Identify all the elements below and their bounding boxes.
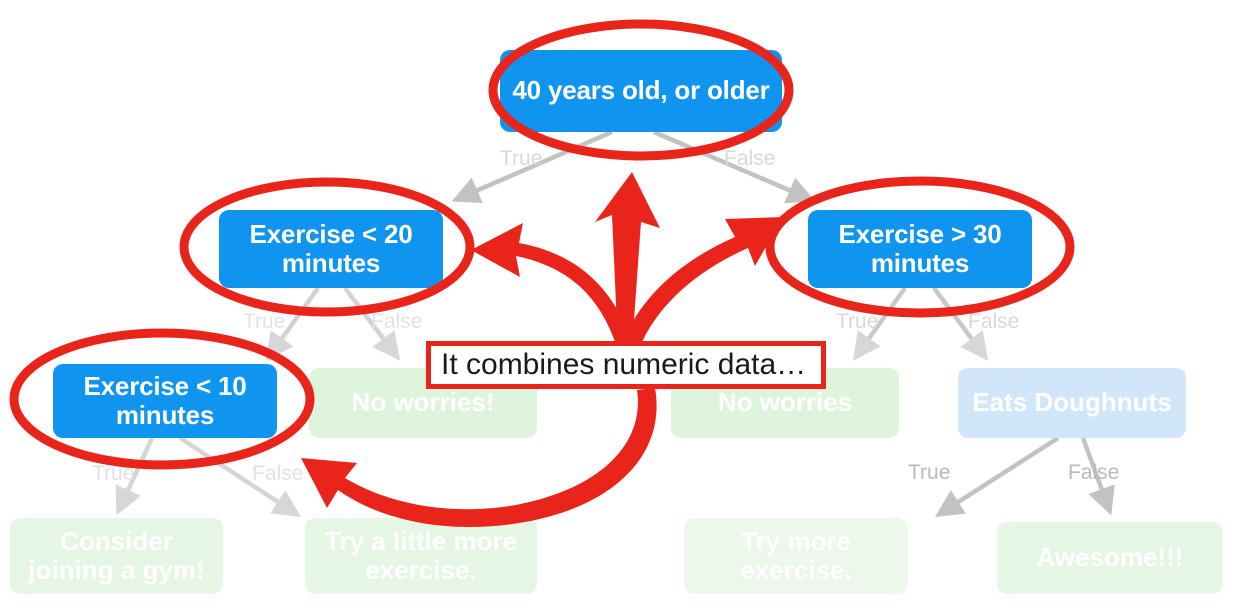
node-try-little-more-exercise: Try a little more exercise. xyxy=(305,518,537,594)
node-root: 40 years old, or older xyxy=(500,50,782,132)
edge-label-ex20-false: False xyxy=(371,310,422,334)
red-fan-arrows xyxy=(471,172,783,349)
edge-label-ex10-true: True xyxy=(92,462,134,486)
decision-tree-diagram: 40 years old, or older Exercise < 20 min… xyxy=(0,0,1233,612)
node-consider-gym: Consider joining a gym! xyxy=(10,518,223,594)
edge-label-ex10-false: False xyxy=(252,462,303,486)
node-exercise-lt-10: Exercise < 10 minutes xyxy=(53,364,277,438)
node-try-more-exercise: Try more exercise. xyxy=(684,518,908,594)
node-exercise-lt-20: Exercise < 20 minutes xyxy=(219,210,443,288)
edge-label-ex30-false: False xyxy=(968,310,1019,334)
edge-label-root-true: True xyxy=(500,147,542,171)
edge-label-doughnuts-true: True xyxy=(908,461,950,485)
edge-label-ex20-true: True xyxy=(243,310,285,334)
edge-label-ex30-true: True xyxy=(836,310,878,334)
node-exercise-gt-30: Exercise > 30 minutes xyxy=(808,210,1032,288)
edge-label-doughnuts-false: False xyxy=(1068,461,1119,485)
callout-box: It combines numeric data… xyxy=(426,341,826,389)
node-awesome: Awesome!!! xyxy=(997,522,1223,594)
node-eats-doughnuts: Eats Doughnuts xyxy=(958,368,1186,438)
edge-label-root-false: False xyxy=(724,147,775,171)
